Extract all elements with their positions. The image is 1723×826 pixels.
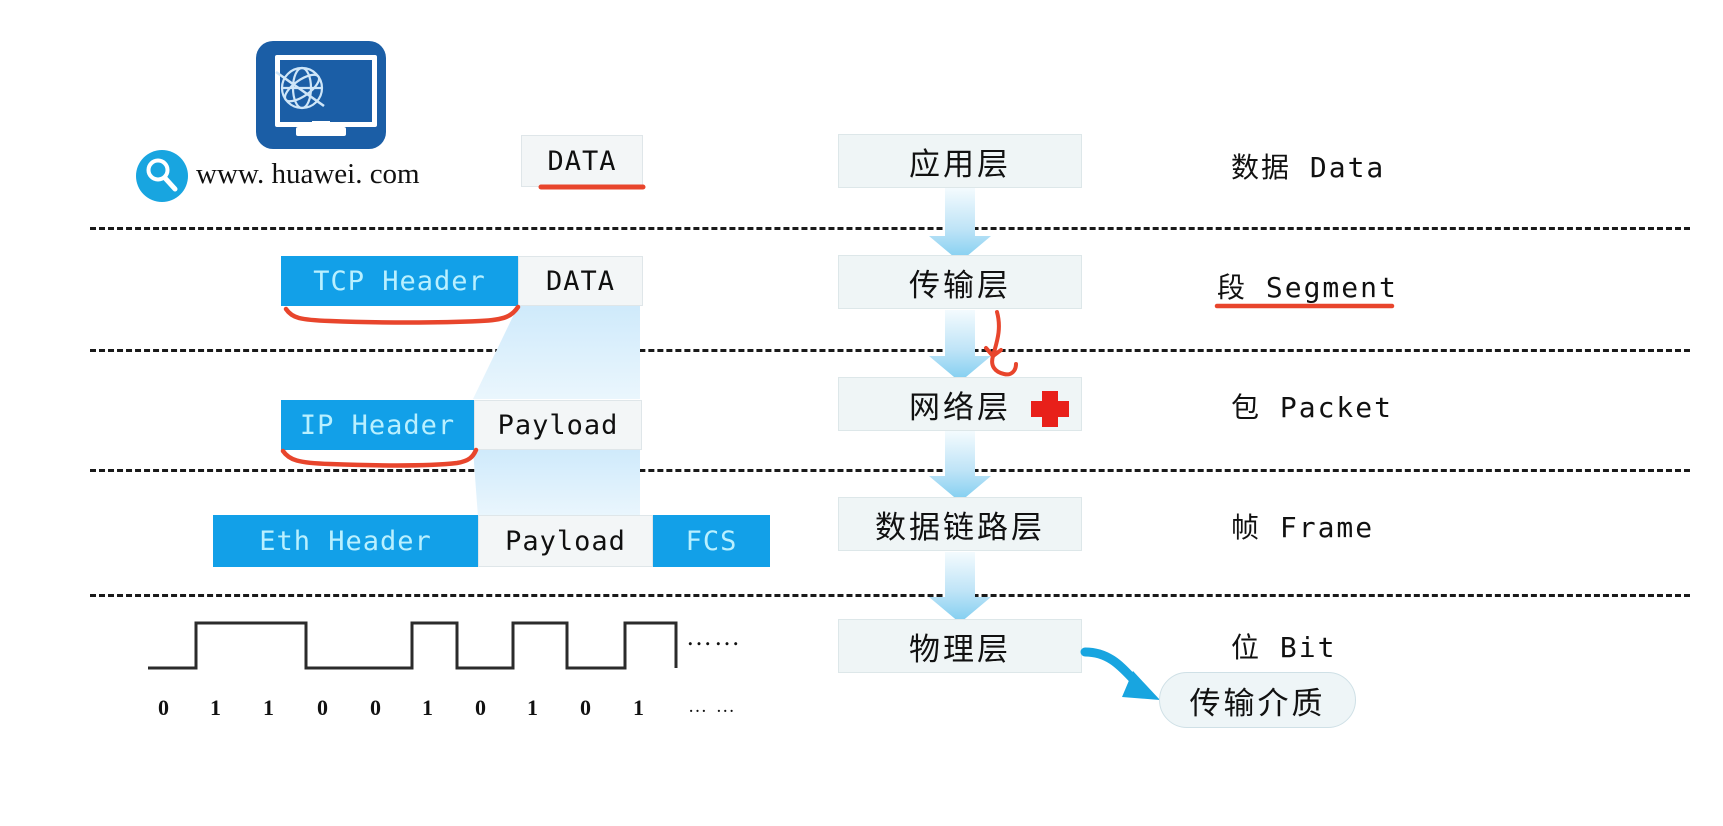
pdu-label-frame: 帧 Frame bbox=[1231, 506, 1374, 546]
red-underline-marker-segment bbox=[0, 0, 1723, 826]
pdu-label-packet: 包 Packet bbox=[1231, 386, 1393, 426]
pdu-label-bit: 位 Bit bbox=[1231, 626, 1336, 666]
protocol-stack-diagram: www. huawei. com DATA TCP Header DATA IP… bbox=[0, 0, 1723, 826]
